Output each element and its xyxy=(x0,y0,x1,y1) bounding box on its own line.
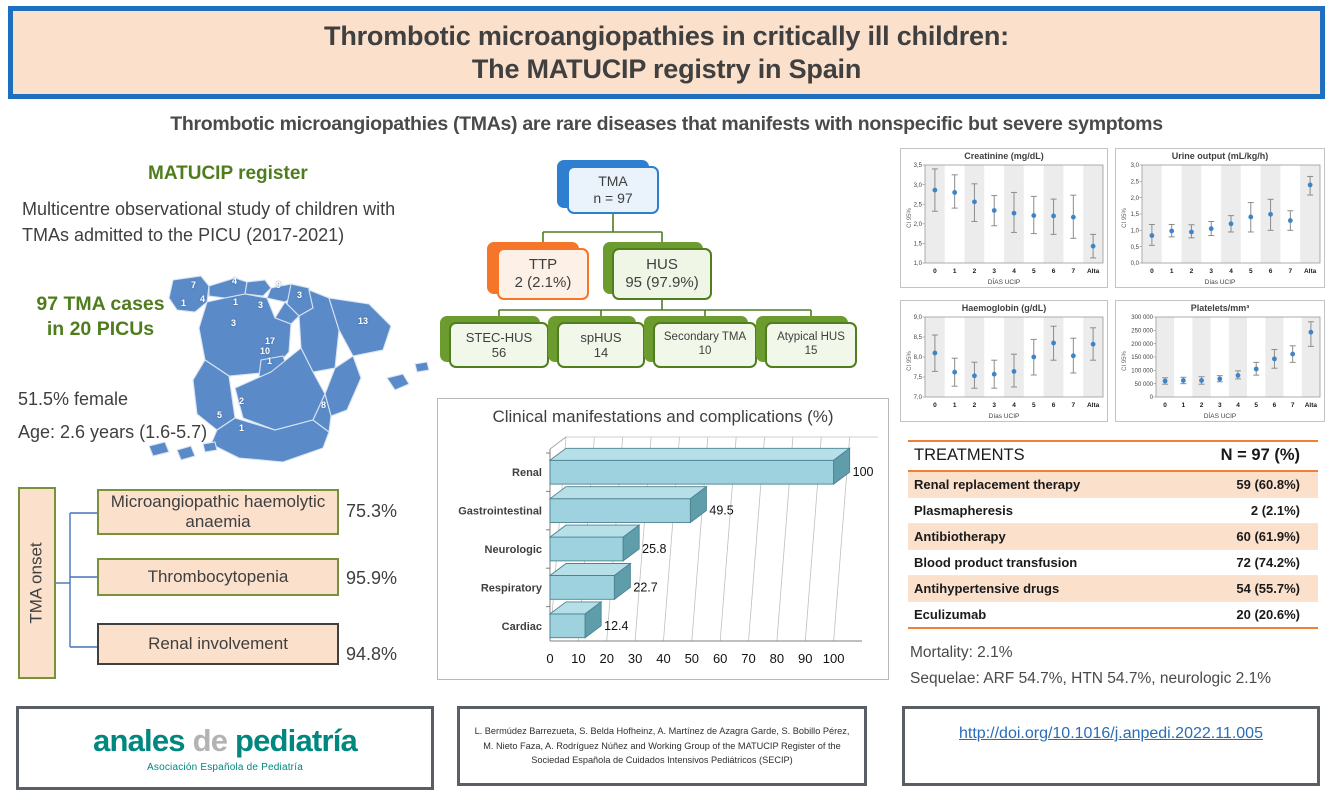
bar-category-label: Gastrointestinal xyxy=(458,506,542,518)
outcomes-summary: Mortality: 2.1% Sequelae: ARF 54.7%, HTN… xyxy=(910,640,1271,691)
x-tick-label: 7 xyxy=(1289,268,1293,275)
y-tick-label: 1,0 xyxy=(1131,229,1140,235)
data-point xyxy=(1290,352,1295,357)
journal-logo: anales de pediatría xyxy=(93,723,357,759)
bar-chart-title: Clinical manifestations and complication… xyxy=(438,407,888,427)
x-tick-label: 6 xyxy=(1273,402,1277,409)
y-tick-label: 50 000 xyxy=(1135,382,1154,388)
title-line-2: The MATUCIP registry in Spain xyxy=(324,53,1009,86)
bar-gastrointestinal xyxy=(550,499,690,523)
data-point xyxy=(1091,244,1096,249)
tree-node-ttp-label: TTP xyxy=(529,256,557,274)
onset-pct-1: 95.9% xyxy=(346,568,397,589)
map-count-cantabria: 9 xyxy=(276,280,281,290)
tree-node-tma: TMA n = 97 xyxy=(567,166,659,214)
platelets-chart-svg: 050 000100 000150 000200 000250 000300 0… xyxy=(1116,301,1326,423)
tree-leaf-3-value: 15 xyxy=(805,345,818,359)
bar-chart-svg: 100Renal49.5Gastrointestinal25.8Neurolog… xyxy=(438,435,890,681)
map-count-galicia-3: 4 xyxy=(200,294,205,304)
data-point xyxy=(1181,378,1186,383)
tree-leaf-secondary-tma: Secondary TMA 10 xyxy=(653,322,757,368)
bar-x-tick: 100 xyxy=(823,651,845,666)
poster-subtitle: Thrombotic microangiopathies (TMAs) are … xyxy=(0,113,1333,136)
bar-value-label: 25.8 xyxy=(642,542,666,556)
x-tick-label: 1 xyxy=(1170,268,1174,275)
doi-link[interactable]: http://doi.org/10.1016/j.anpedi.2022.11.… xyxy=(959,725,1263,743)
x-tick-label: 6 xyxy=(1269,268,1273,275)
data-point xyxy=(972,199,977,204)
onset-row-2: Renal involvement xyxy=(97,623,339,665)
x-tick-label: 7 xyxy=(1072,402,1076,409)
x-tick-label: 5 xyxy=(1254,402,1258,409)
bar-x-tick: 70 xyxy=(741,651,755,666)
y-tick-label: 9,0 xyxy=(914,315,923,321)
y-tick-label: 8,0 xyxy=(914,355,923,361)
tma-onset-label-text: TMA onset xyxy=(27,542,47,623)
bar-x-tick: 40 xyxy=(656,651,670,666)
data-point xyxy=(1229,221,1234,226)
tma-onset-label: TMA onset xyxy=(18,487,56,679)
authors-box: L. Bermúdez Barrezueta, S. Belda Hofhein… xyxy=(457,706,867,786)
tree-leaf-0-value: 56 xyxy=(492,345,506,360)
bar-value-label: 22.7 xyxy=(633,580,657,594)
y-tick-label: 8,5 xyxy=(914,335,923,341)
x-tick-label: 1 xyxy=(953,402,957,409)
x-tick-label: 0 xyxy=(1163,402,1167,409)
map-count-asturias: 4 xyxy=(232,276,237,286)
creatinine-chart-svg: 1,01,52,02,53,03,501234567Alta xyxy=(901,149,1109,289)
bar-neurologic xyxy=(550,537,623,561)
tma-onset-flow: TMA onset Microangiopathic haemolytic an… xyxy=(14,487,414,683)
treatments-table: TREATMENTS N = 97 (%) Renal replacement … xyxy=(908,440,1318,629)
data-point xyxy=(992,372,997,377)
x-tick-label: 1 xyxy=(1182,402,1186,409)
x-tick-label: 6 xyxy=(1052,402,1056,409)
data-point xyxy=(1051,214,1056,219)
x-tick-label: 4 xyxy=(1236,402,1240,409)
onset-connector-lines xyxy=(56,487,98,679)
x-tick-label: 2 xyxy=(973,402,977,409)
bar-chart-plot-area: 100Renal49.5Gastrointestinal25.8Neurolog… xyxy=(438,435,890,681)
clinical-manifestations-chart: Clinical manifestations and complication… xyxy=(437,398,889,680)
map-count-madrid-1: 17 xyxy=(265,336,275,346)
haemoglobin-chart: Haemoglobin (g/dL) CI 95% Días UCIP 7,07… xyxy=(900,300,1108,422)
spain-map: 7 4 1 4 1 9 3 3 3 13 17 10 1 2 8 5 1 xyxy=(143,268,443,468)
tree-leaf-0-label: STEC-HUS xyxy=(466,330,532,345)
mortality-text: Mortality: 2.1% xyxy=(910,640,1271,666)
map-count-castillaleon-3: 3 xyxy=(231,318,236,328)
table-row: Plasmapheresis2 (2.1%) xyxy=(908,498,1318,524)
tree-leaf-atypical-hus: Atypical HUS 15 xyxy=(765,322,857,368)
y-tick-label: 7,0 xyxy=(914,395,923,401)
y-tick-label: 2,0 xyxy=(1131,196,1140,202)
creatinine-chart: Creatinine (mg/dL) CI 95% DÍAS UCIP 1,01… xyxy=(900,148,1108,288)
y-tick-label: 2,5 xyxy=(1131,180,1140,186)
data-point xyxy=(1163,379,1168,384)
spain-map-svg xyxy=(143,268,443,468)
y-tick-label: 1,0 xyxy=(914,261,923,267)
data-point xyxy=(1272,356,1277,361)
x-tick-label: 4 xyxy=(1012,402,1016,409)
data-point xyxy=(1288,218,1293,223)
treatments-header-row: TREATMENTS N = 97 (%) xyxy=(908,441,1318,471)
tma-classification-tree: TMA n = 97 TTP 2 (2.1%) HUS 95 (97.9%) S… xyxy=(437,160,887,375)
bar-x-tick: 10 xyxy=(571,651,585,666)
y-tick-label: 300 000 xyxy=(1131,315,1153,321)
data-point xyxy=(1031,213,1036,218)
treatment-name: Eculizumab xyxy=(908,602,1168,629)
map-count-galicia-2: 1 xyxy=(181,298,186,308)
treatment-name: Antibiotherapy xyxy=(908,524,1168,550)
y-tick-label: 0 xyxy=(1150,395,1154,401)
doi-box: http://doi.org/10.1016/j.anpedi.2022.11.… xyxy=(902,706,1320,786)
logo-word-pediatria: pediatría xyxy=(235,723,357,758)
tree-leaf-2-label: Secondary TMA xyxy=(664,331,746,345)
treatment-name: Antihypertensive drugs xyxy=(908,576,1168,602)
bar-value-label: 49.5 xyxy=(709,504,733,518)
data-point xyxy=(952,370,957,375)
treatment-name: Renal replacement therapy xyxy=(908,471,1168,498)
data-point xyxy=(972,373,977,378)
data-point xyxy=(1012,211,1017,216)
urine-output-chart-svg: 0,00,51,01,52,02,53,001234567Alta xyxy=(1116,149,1326,289)
y-tick-label: 3,5 xyxy=(914,163,923,169)
bar-value-label: 100 xyxy=(853,465,874,479)
map-count-andalucia-2: 5 xyxy=(217,410,222,420)
tree-leaf-1-value: 14 xyxy=(594,345,608,360)
data-point xyxy=(1254,367,1259,372)
poster-title-banner: Thrombotic microangiopathies in critical… xyxy=(8,6,1325,99)
x-tick-label: 5 xyxy=(1032,402,1036,409)
y-tick-label: 250 000 xyxy=(1131,329,1153,335)
tree-leaf-sphus: spHUS 14 xyxy=(557,322,645,368)
x-tick-label: 0 xyxy=(933,402,937,409)
logo-subtitle: Asociación Española de Pediatría xyxy=(147,762,303,773)
table-row: Eculizumab20 (20.6%) xyxy=(908,602,1318,629)
authors-list: L. Bermúdez Barrezueta, S. Belda Hofhein… xyxy=(474,724,850,769)
tree-node-tma-label: TMA xyxy=(598,173,628,190)
bar-category-label: Cardiac xyxy=(502,621,542,633)
x-tick-label: 6 xyxy=(1052,268,1056,275)
tree-leaf-stec-hus: STEC-HUS 56 xyxy=(449,322,549,368)
bar-x-tick: 20 xyxy=(599,651,613,666)
y-tick-label: 0,5 xyxy=(1131,245,1140,251)
matucip-register-heading: MATUCIP register xyxy=(148,163,308,185)
map-count-andalucia-3: 1 xyxy=(239,423,244,433)
tree-node-tma-value: n = 97 xyxy=(593,190,632,207)
x-tick-label: 3 xyxy=(992,402,996,409)
urine-output-chart: Urine output (mL/kg/h) CI 95% Días UCIP … xyxy=(1115,148,1325,288)
x-tick-label: 2 xyxy=(1190,268,1194,275)
tree-leaf-2-value: 10 xyxy=(699,345,712,359)
data-point xyxy=(1308,183,1313,188)
treatment-value: 54 (55.7%) xyxy=(1168,576,1319,602)
y-tick-label: 150 000 xyxy=(1131,355,1153,361)
x-tick-label: 2 xyxy=(1200,402,1204,409)
treatment-name: Plasmapheresis xyxy=(908,498,1168,524)
bar-x-tick: 30 xyxy=(628,651,642,666)
map-count-andalucia-1: 2 xyxy=(239,396,244,406)
data-point xyxy=(1199,378,1204,383)
bar-x-tick: 90 xyxy=(798,651,812,666)
map-count-castillaleon-1: 1 xyxy=(233,297,238,307)
haemoglobin-chart-svg: 7,07,58,08,59,001234567Alta xyxy=(901,301,1109,423)
onset-pct-0: 75.3% xyxy=(346,501,397,522)
bar-renal xyxy=(550,460,834,484)
table-row: Renal replacement therapy59 (60.8%) xyxy=(908,471,1318,498)
x-tick-label: Alta xyxy=(1304,268,1317,275)
tree-leaf-3-label: Atypical HUS xyxy=(777,331,845,345)
treatment-value: 72 (74.2%) xyxy=(1168,550,1319,576)
sequelae-text: Sequelae: ARF 54.7%, HTN 54.7%, neurolog… xyxy=(910,666,1271,692)
journal-logo-box: anales de pediatría Asociación Española … xyxy=(16,706,434,790)
x-tick-label: 7 xyxy=(1291,402,1295,409)
treatment-value: 60 (61.9%) xyxy=(1168,524,1319,550)
data-point xyxy=(1217,376,1222,381)
y-tick-label: 2,0 xyxy=(914,222,923,228)
matucip-register-description: Multicentre observational study of child… xyxy=(22,197,442,248)
y-tick-label: 3,0 xyxy=(1131,163,1140,169)
x-tick-label: 7 xyxy=(1072,268,1076,275)
y-tick-label: 1,5 xyxy=(914,242,923,248)
data-point xyxy=(1268,212,1273,217)
map-count-cataluna: 13 xyxy=(358,316,368,326)
data-point xyxy=(992,208,997,213)
data-point xyxy=(1071,353,1076,358)
bar-category-label: Respiratory xyxy=(481,582,543,594)
y-tick-label: 100 000 xyxy=(1131,369,1153,375)
treatment-value: 59 (60.8%) xyxy=(1168,471,1319,498)
bar-x-tick: 60 xyxy=(713,651,727,666)
data-point xyxy=(1189,230,1194,235)
bar-x-tick: 50 xyxy=(685,651,699,666)
data-point xyxy=(1236,373,1241,378)
data-point xyxy=(1149,233,1154,238)
data-point xyxy=(1169,229,1174,234)
logo-word-de: de xyxy=(193,723,228,758)
table-row: Antibiotherapy60 (61.9%) xyxy=(908,524,1318,550)
map-count-madrid-2: 10 xyxy=(260,346,270,356)
data-point xyxy=(1051,341,1056,346)
bar-cardiac xyxy=(550,614,585,638)
data-point xyxy=(932,188,937,193)
x-tick-label: 3 xyxy=(1209,268,1213,275)
treatment-name: Blood product transfusion xyxy=(908,550,1168,576)
data-point xyxy=(1248,215,1253,220)
treatments-header-value: N = 97 (%) xyxy=(1168,441,1319,471)
bar-category-label: Renal xyxy=(512,467,542,479)
x-tick-label: Alta xyxy=(1305,402,1318,409)
x-tick-label: 4 xyxy=(1229,268,1233,275)
tree-node-hus-label: HUS xyxy=(646,256,678,274)
data-point xyxy=(1091,342,1096,347)
y-tick-label: 3,0 xyxy=(914,183,923,189)
x-tick-label: Alta xyxy=(1087,268,1100,275)
y-tick-label: 200 000 xyxy=(1131,342,1153,348)
map-count-castillaleon-2: 3 xyxy=(258,300,263,310)
x-tick-label: 2 xyxy=(973,268,977,275)
bar-value-label: 12.4 xyxy=(604,619,628,633)
x-tick-label: Alta xyxy=(1087,402,1100,409)
bar-respiratory xyxy=(550,575,614,599)
bar-x-tick: 0 xyxy=(546,651,553,666)
x-tick-label: 3 xyxy=(992,268,996,275)
bar-x-tick: 80 xyxy=(770,651,784,666)
y-tick-label: 0,0 xyxy=(1131,261,1140,267)
data-point xyxy=(1071,215,1076,220)
x-tick-label: 3 xyxy=(1218,402,1222,409)
x-tick-label: 4 xyxy=(1012,268,1016,275)
bar-category-label: Neurologic xyxy=(485,544,542,556)
treatment-value: 20 (20.6%) xyxy=(1168,602,1319,629)
data-point xyxy=(1012,369,1017,374)
onset-row-0: Microangiopathic haemolytic anaemia xyxy=(97,489,339,535)
platelets-chart: Platelets/mm³ CI 95% DÍAS UCIP 050 00010… xyxy=(1115,300,1325,422)
map-count-madrid-3: 1 xyxy=(267,356,272,366)
logo-word-anales: anales xyxy=(93,723,185,758)
map-count-paisvasco: 3 xyxy=(297,290,302,300)
data-point xyxy=(932,351,937,356)
x-tick-label: 5 xyxy=(1032,268,1036,275)
tree-node-hus-value: 95 (97.9%) xyxy=(625,274,698,292)
x-tick-label: 1 xyxy=(953,268,957,275)
data-point xyxy=(1209,226,1214,231)
title-line-1: Thrombotic microangiopathies in critical… xyxy=(324,20,1009,53)
treatment-value: 2 (2.1%) xyxy=(1168,498,1319,524)
x-tick-label: 0 xyxy=(933,268,937,275)
tree-leaf-1-label: spHUS xyxy=(580,330,621,345)
data-point xyxy=(952,190,957,195)
data-point xyxy=(1308,330,1313,335)
onset-row-1: Thrombocytopenia xyxy=(97,558,339,596)
y-tick-label: 2,5 xyxy=(914,202,923,208)
table-row: Antihypertensive drugs54 (55.7%) xyxy=(908,576,1318,602)
data-point xyxy=(1031,355,1036,360)
x-tick-label: 0 xyxy=(1150,268,1154,275)
map-count-galicia-1: 7 xyxy=(191,280,196,290)
tree-node-hus: HUS 95 (97.9%) xyxy=(612,248,712,300)
treatments-header-label: TREATMENTS xyxy=(908,441,1168,471)
onset-pct-2: 94.8% xyxy=(346,644,397,665)
table-row: Blood product transfusion72 (74.2%) xyxy=(908,550,1318,576)
map-count-murcia: 8 xyxy=(321,400,326,410)
tree-node-ttp-value: 2 (2.1%) xyxy=(515,274,572,292)
tree-node-ttp: TTP 2 (2.1%) xyxy=(497,248,589,300)
y-tick-label: 1,5 xyxy=(1131,212,1140,218)
y-tick-label: 7,5 xyxy=(914,375,923,381)
x-tick-label: 5 xyxy=(1249,268,1253,275)
